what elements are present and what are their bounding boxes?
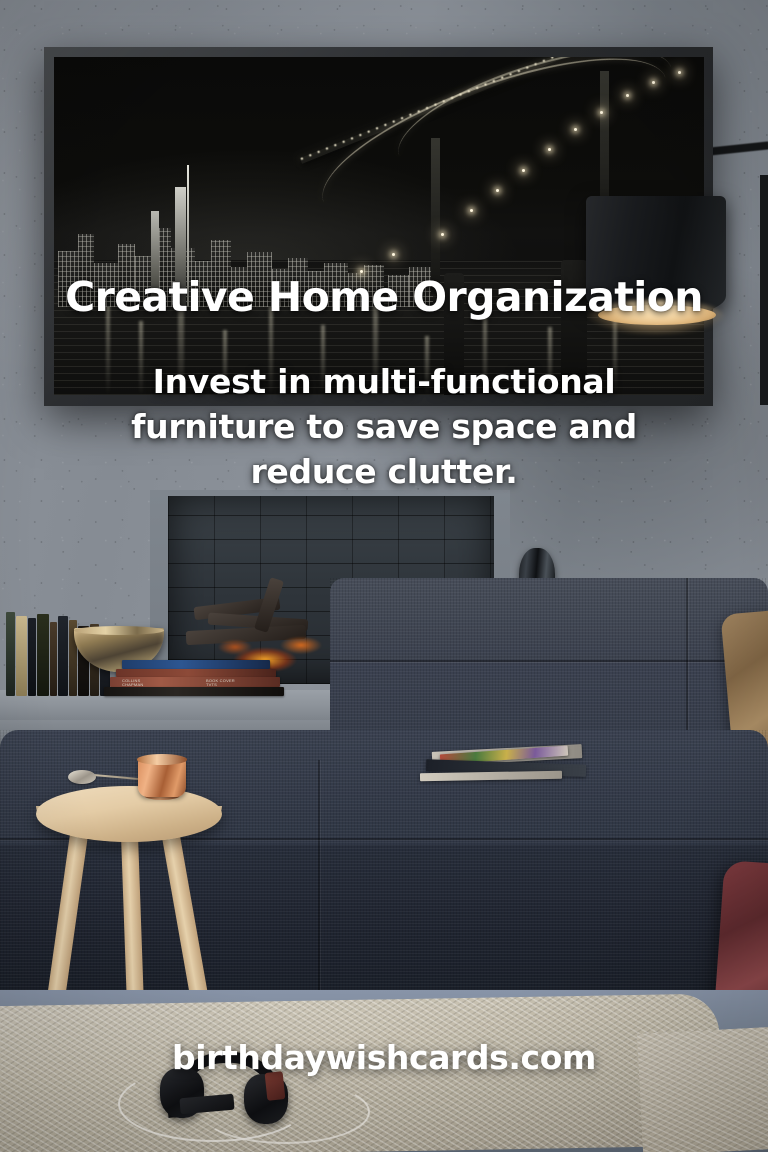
poster-canvas: COLLINS CHAPMAN BOOK COVER TVTS bbox=[0, 0, 768, 1152]
text-overlay: Creative Home Organization Invest in mul… bbox=[0, 0, 768, 1152]
poster-subheadline: Invest in multi-functional furniture to … bbox=[84, 360, 684, 495]
poster-headline: Creative Home Organization bbox=[0, 276, 768, 319]
site-watermark: birthdaywishcards.com bbox=[0, 1038, 768, 1077]
